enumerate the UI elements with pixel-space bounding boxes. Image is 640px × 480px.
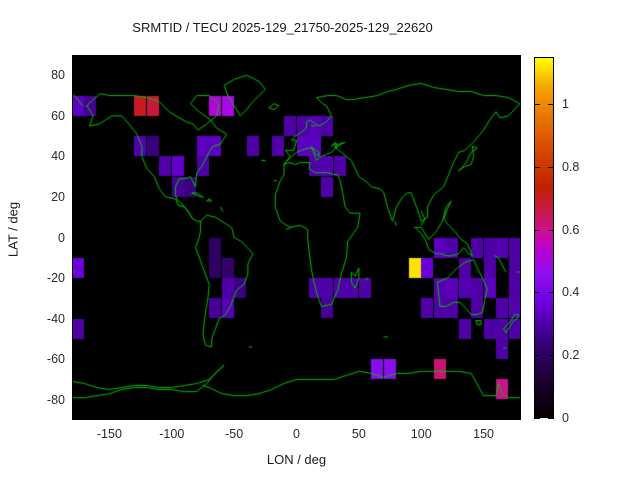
- colorbar-tick-mark: [534, 418, 540, 419]
- x-tick-label: 150: [473, 427, 494, 441]
- world-map-heatmap-canvas: [72, 55, 521, 420]
- colorbar: [534, 57, 554, 418]
- x-tick-label: 50: [352, 427, 366, 441]
- colorbar-tick-mark: [548, 418, 554, 419]
- colorbar-tick-label: 1: [562, 97, 569, 111]
- x-axis-label: LON / deg: [72, 452, 521, 467]
- y-tick-label: -40: [5, 312, 65, 326]
- colorbar-tick-label: 0: [562, 411, 569, 425]
- colorbar-tick-label: 0.2: [562, 348, 579, 362]
- colorbar-tick-label: 0.4: [562, 285, 579, 299]
- y-axis-label: LAT / deg: [6, 170, 21, 290]
- x-tick-label: -100: [159, 427, 184, 441]
- heatmap-plot-area: [72, 55, 521, 420]
- colorbar-tick-label: 0.6: [562, 223, 579, 237]
- y-tick-label: 60: [5, 109, 65, 123]
- colorbar-gradient-canvas: [534, 57, 554, 418]
- x-tick-label: -150: [97, 427, 122, 441]
- x-tick-label: 100: [411, 427, 432, 441]
- y-tick-label: -60: [5, 352, 65, 366]
- x-axis-ticks: -150-100-50050100150: [72, 427, 521, 447]
- figure-root: SRMTID / TECU 2025-129_21750-2025-129_22…: [0, 0, 640, 480]
- colorbar-tick-label: 0.8: [562, 160, 579, 174]
- page-title: SRMTID / TECU 2025-129_21750-2025-129_22…: [0, 20, 565, 35]
- x-tick-label: -50: [225, 427, 243, 441]
- y-tick-label: -80: [5, 393, 65, 407]
- y-tick-label: 80: [5, 68, 65, 82]
- x-tick-label: 0: [293, 427, 300, 441]
- y-tick-label: 40: [5, 149, 65, 163]
